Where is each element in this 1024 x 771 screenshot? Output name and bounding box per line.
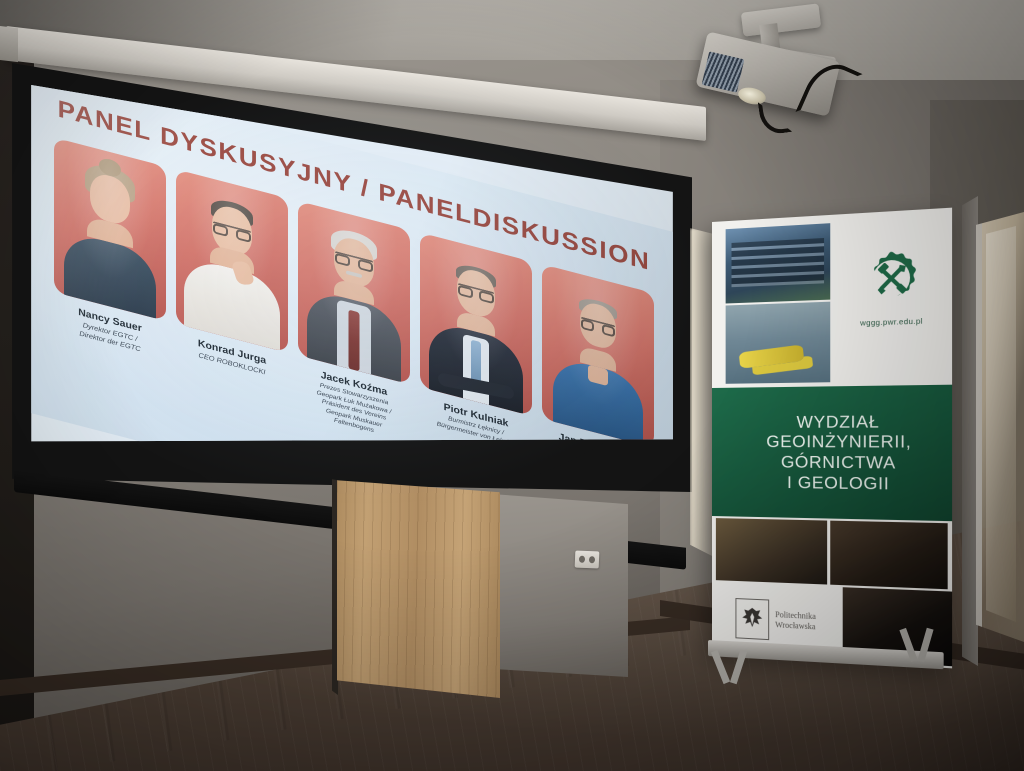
banner-faculty-text: WYDZIAŁ GEOINŻYNIERII, GÓRNICTWA I GEOLO… [748,411,911,494]
panelist-card: Jacek Koźma Prezes Stowarzyszenia Geopar… [298,201,410,445]
rollup-banner: wggg.pwr.edu.pl WYDZIAŁ GEOINŻYNIERII, G… [712,208,952,669]
wall-outlet[interactable] [575,551,600,569]
banner-url: wggg.pwr.edu.pl [860,316,923,327]
door-wood-grain [337,478,500,698]
glass-door-pane [986,226,1016,622]
panelist-card: Konrad Jurga CEO ROBOKLOCKI [176,169,288,383]
banner-photo-building [726,223,831,303]
panelist-portrait [420,233,532,417]
banner-photo-kayaks [726,302,831,384]
panelist-portrait [298,201,410,385]
mining-hammers-icon [862,248,922,315]
panelist-portrait [54,138,166,322]
panelist-portrait [176,169,288,353]
wall-niche [500,487,628,677]
banner-faculty-block: WYDZIAŁ GEOINŻYNIERII, GÓRNICTWA I GEOLO… [712,385,952,522]
panelist-card: Piotr Kulniak Burmistrz Łęknicy / Bürger… [420,233,532,454]
university-name: Politechnika Wrocławska [775,610,816,632]
panelist-card: Nancy Sauer Dyrektor EGTC / Direktor der… [54,138,166,361]
panelist-portrait [542,264,654,448]
pwr-crest-icon [735,598,769,640]
banner-photo-mine [830,521,948,590]
glass-door-frame [962,196,978,666]
screen-housing-end-cap [0,26,18,62]
banner-photo-geology [716,518,827,584]
conference-room-photo: PANEL DYSKUSYJNY / PANELDISKUSSION Nancy… [0,0,1024,771]
banner-photo-strip [712,518,952,589]
banner-logo-block: wggg.pwr.edu.pl [841,227,944,347]
